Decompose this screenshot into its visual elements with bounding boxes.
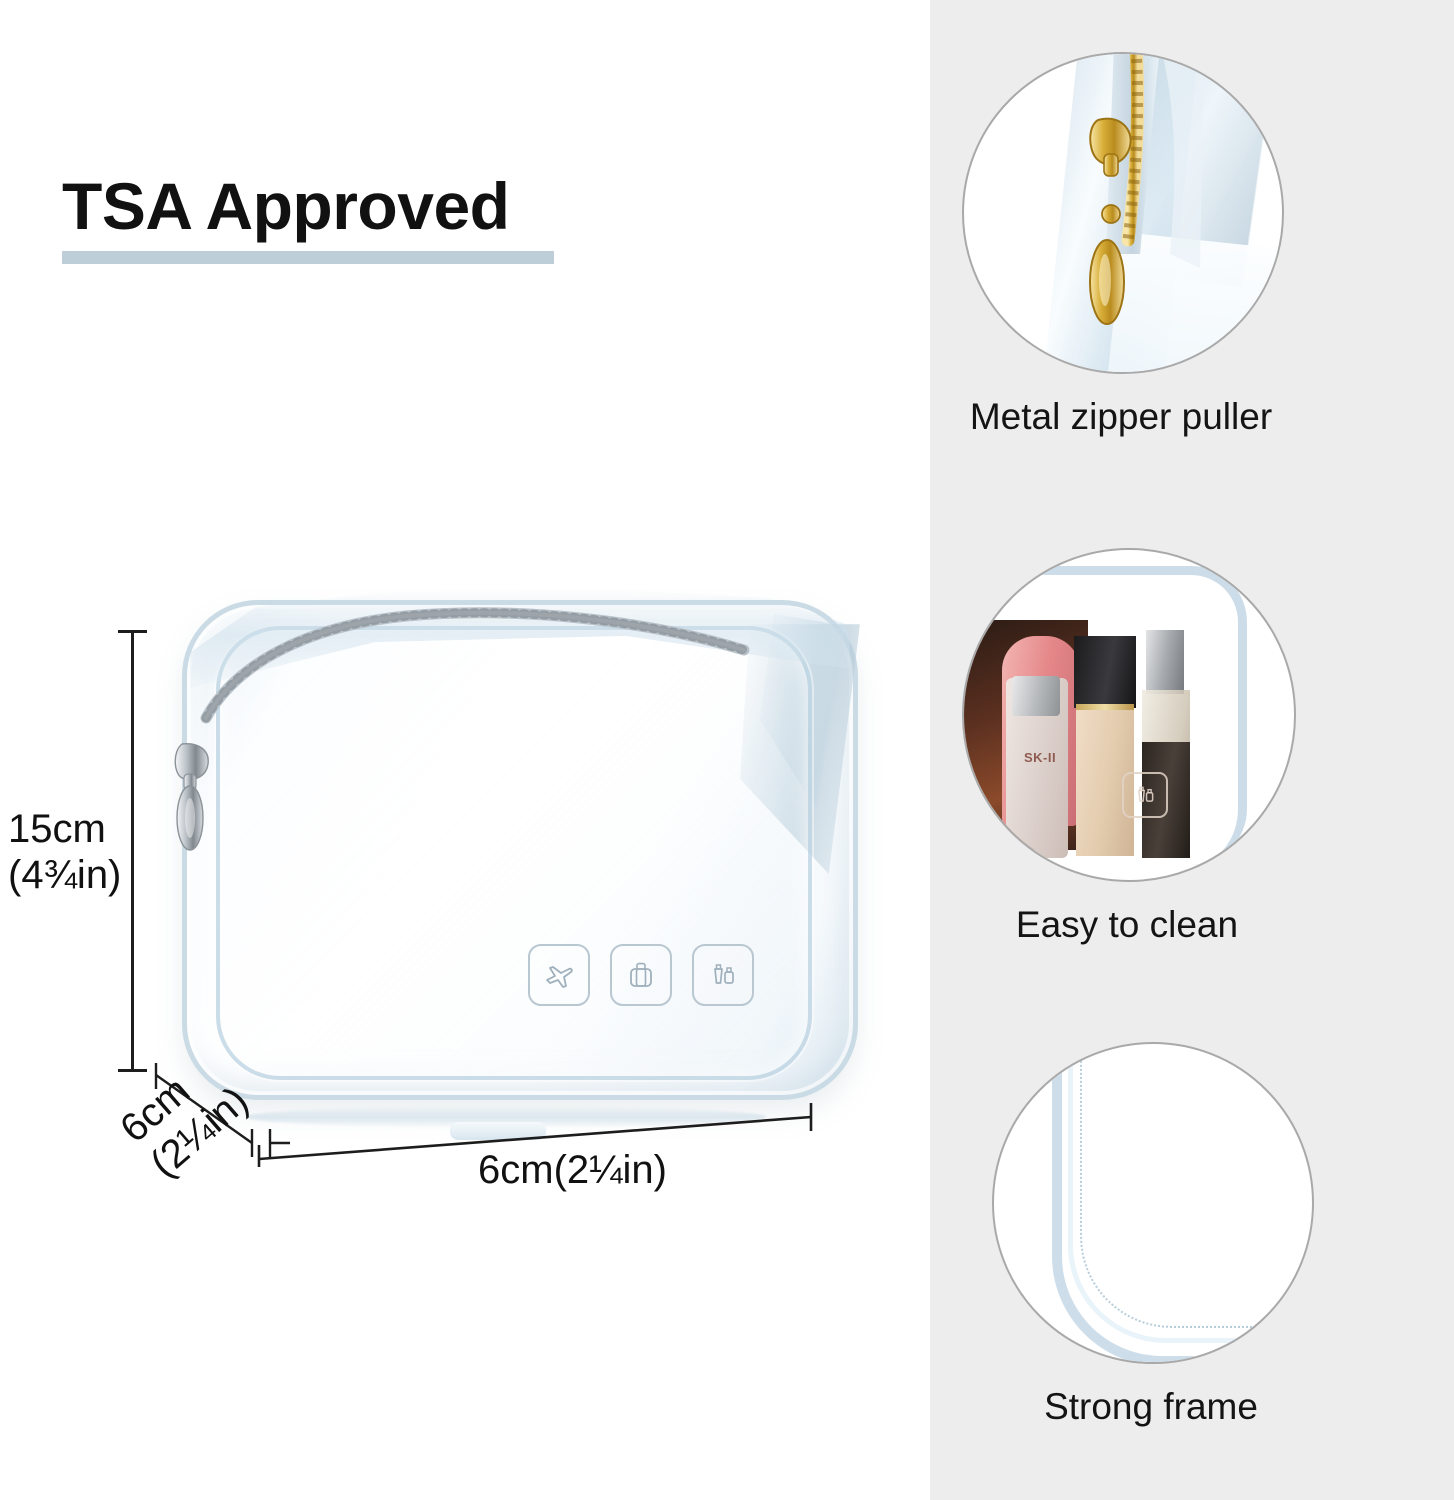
headline-block: TSA Approved [62,172,682,264]
width-dimension-label: 6cm(2¼in) [478,1148,667,1193]
bag-corner-stitching [1080,1042,1262,1328]
callout-easy-to-clean: SK-II Easy to clean [962,548,1296,946]
callout-clean-caption: Easy to clean [962,904,1292,946]
callout-zipper-caption: Metal zipper puller [962,396,1280,438]
airplane-icon [528,944,590,1006]
product-infographic: TSA Approved [0,0,1454,1500]
callout-metal-zipper-puller: Metal zipper puller [962,52,1284,438]
callout-frame-image [992,1042,1314,1364]
callout-strong-frame: Strong frame [992,1042,1314,1428]
bag-front-panel-outline [216,626,812,1080]
clear-bag-edge [1038,566,1247,865]
height-dimension-label: 15cm (4¾in) [8,806,121,899]
gold-zipper-detail [964,54,1282,372]
callout-zipper-image [962,52,1284,374]
toiletry-bottles-icon [692,944,754,1006]
callout-frame-caption: Strong frame [992,1386,1310,1428]
callout-clean-image: SK-II [962,548,1296,882]
page-title: TSA Approved [62,172,682,241]
title-underline-bar [62,251,554,264]
zipper-slider-and-pull [168,738,222,858]
height-dimension-line [131,630,134,1072]
toiletry-bottles-icon-closeup [1122,772,1168,818]
height-value-cm: 15cm [8,806,121,852]
travel-bag-icon [610,944,672,1006]
height-value-in: (4¾in) [8,852,121,898]
tsa-pictogram-row [528,944,754,1006]
